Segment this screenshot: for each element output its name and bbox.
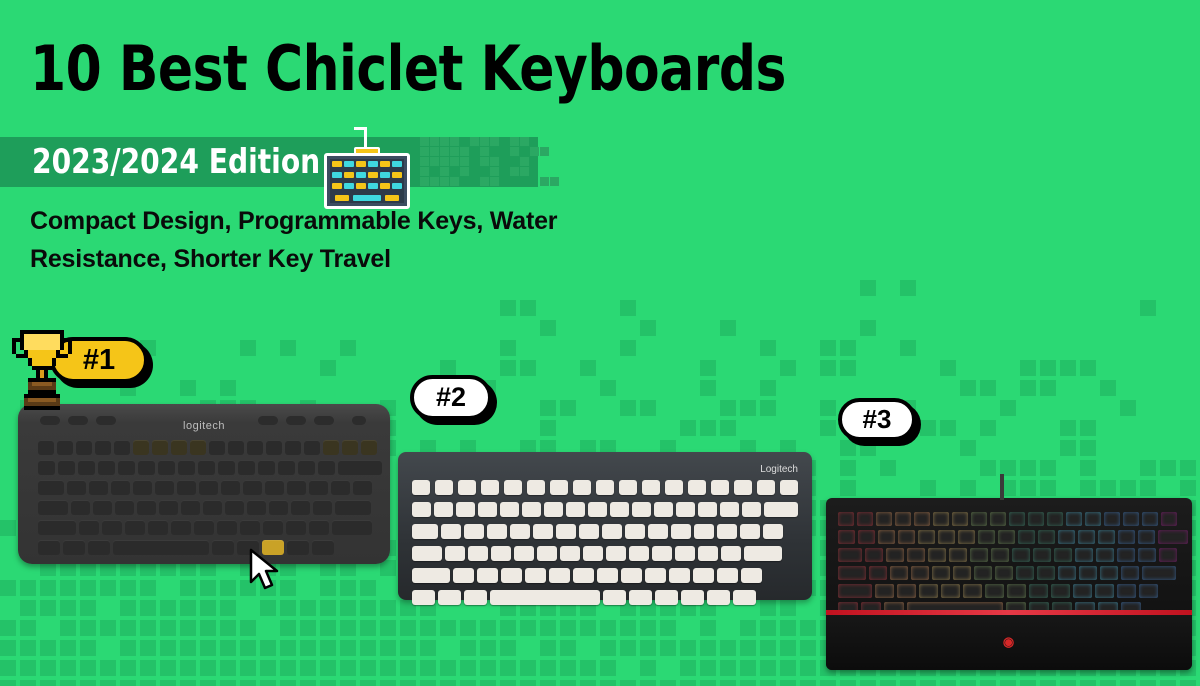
mouse-cursor-icon (248, 548, 282, 594)
rank-badge-3: #3 (838, 398, 916, 441)
pixel-dissolve-decoration (420, 137, 560, 189)
product-image-rank-2[interactable]: Logitech (398, 452, 812, 600)
keyboard-cable (1000, 474, 1004, 500)
product-image-rank-1[interactable]: logitech (18, 404, 390, 564)
rank-badge-2: #2 (410, 375, 492, 420)
page-description: Compact Design, Programmable Keys, Water… (30, 202, 590, 278)
redragon-logo: ◉ (1003, 634, 1015, 650)
trophy-icon (12, 322, 74, 394)
edition-banner-label: 2023/2024 Edition (32, 143, 320, 181)
logitech-brand-label-2: Logitech (760, 464, 798, 475)
page-title: 10 Best Chiclet Keyboards (30, 38, 786, 100)
product-image-rank-3[interactable]: ◉ (826, 498, 1192, 670)
logitech-brand-label: logitech (183, 420, 225, 432)
